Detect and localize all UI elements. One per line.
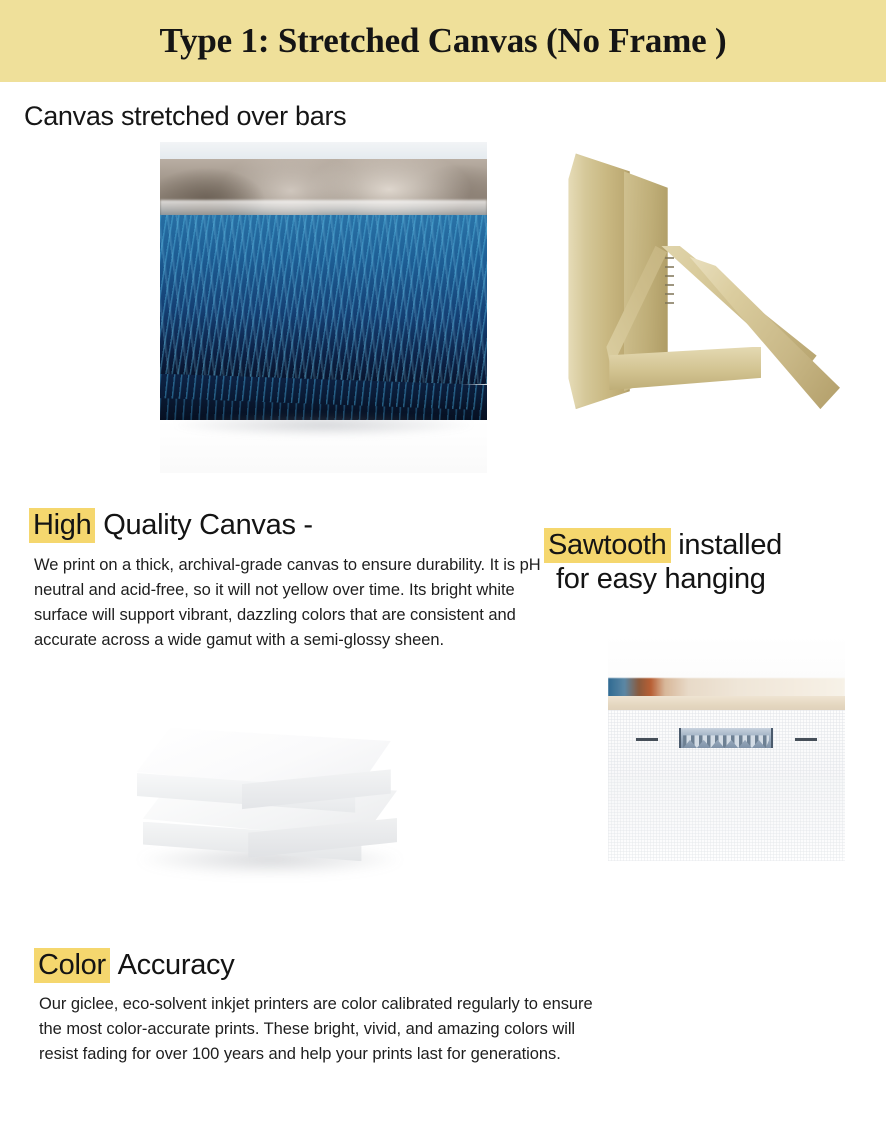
stacked-blank-canvases-photo [118, 710, 428, 890]
color-heading: Color Accuracy [34, 948, 614, 982]
sawtooth-nail-right [795, 738, 816, 742]
sawtooth-section: Sawtooth installed for easy hanging [544, 528, 874, 596]
sawtooth-heading: Sawtooth installed for easy hanging [544, 528, 874, 596]
color-body-text: Our giclee, eco-solvent inkjet printers … [34, 992, 609, 1067]
quality-heading-highlight: High [29, 508, 95, 543]
sawtooth-canvas-back-lower [608, 777, 845, 861]
wood-joint-staples [665, 257, 674, 306]
quality-body-text: We print on a thick, archival-grade canv… [29, 553, 558, 653]
quality-heading-rest: Quality Canvas - [103, 509, 313, 541]
infographic-page: Type 1: Stretched Canvas (No Frame ) Can… [0, 0, 886, 1128]
sawtooth-photo-top-white [608, 635, 845, 682]
sawtooth-heading-rest: installed [678, 529, 782, 561]
quality-heading: High Quality Canvas - [29, 508, 563, 542]
page-title: Type 1: Stretched Canvas (No Frame ) [160, 21, 727, 61]
sawtooth-hanger-photo [608, 635, 845, 861]
quality-section: High Quality Canvas - We print on a thic… [29, 508, 563, 654]
wooden-stretcher-bars-photo [548, 148, 840, 420]
canvas-print-ocean-face [160, 215, 487, 384]
color-heading-rest: Accuracy [118, 949, 235, 981]
section-subtitle-canvas-bars: Canvas stretched over bars [24, 101, 346, 132]
sawtooth-heading-line2: for easy hanging [544, 562, 874, 596]
sawtooth-hanger-hardware [679, 728, 773, 748]
sawtooth-nail-left [636, 738, 657, 742]
canvas-drop-shadow [173, 413, 474, 436]
color-heading-highlight: Color [34, 948, 110, 983]
sawtooth-heading-highlight: Sawtooth [544, 528, 671, 563]
canvas-corner-photo [160, 142, 487, 473]
color-accuracy-section: Color Accuracy Our giclee, eco-solvent i… [34, 948, 614, 1067]
header-band: Type 1: Stretched Canvas (No Frame ) [0, 0, 886, 82]
